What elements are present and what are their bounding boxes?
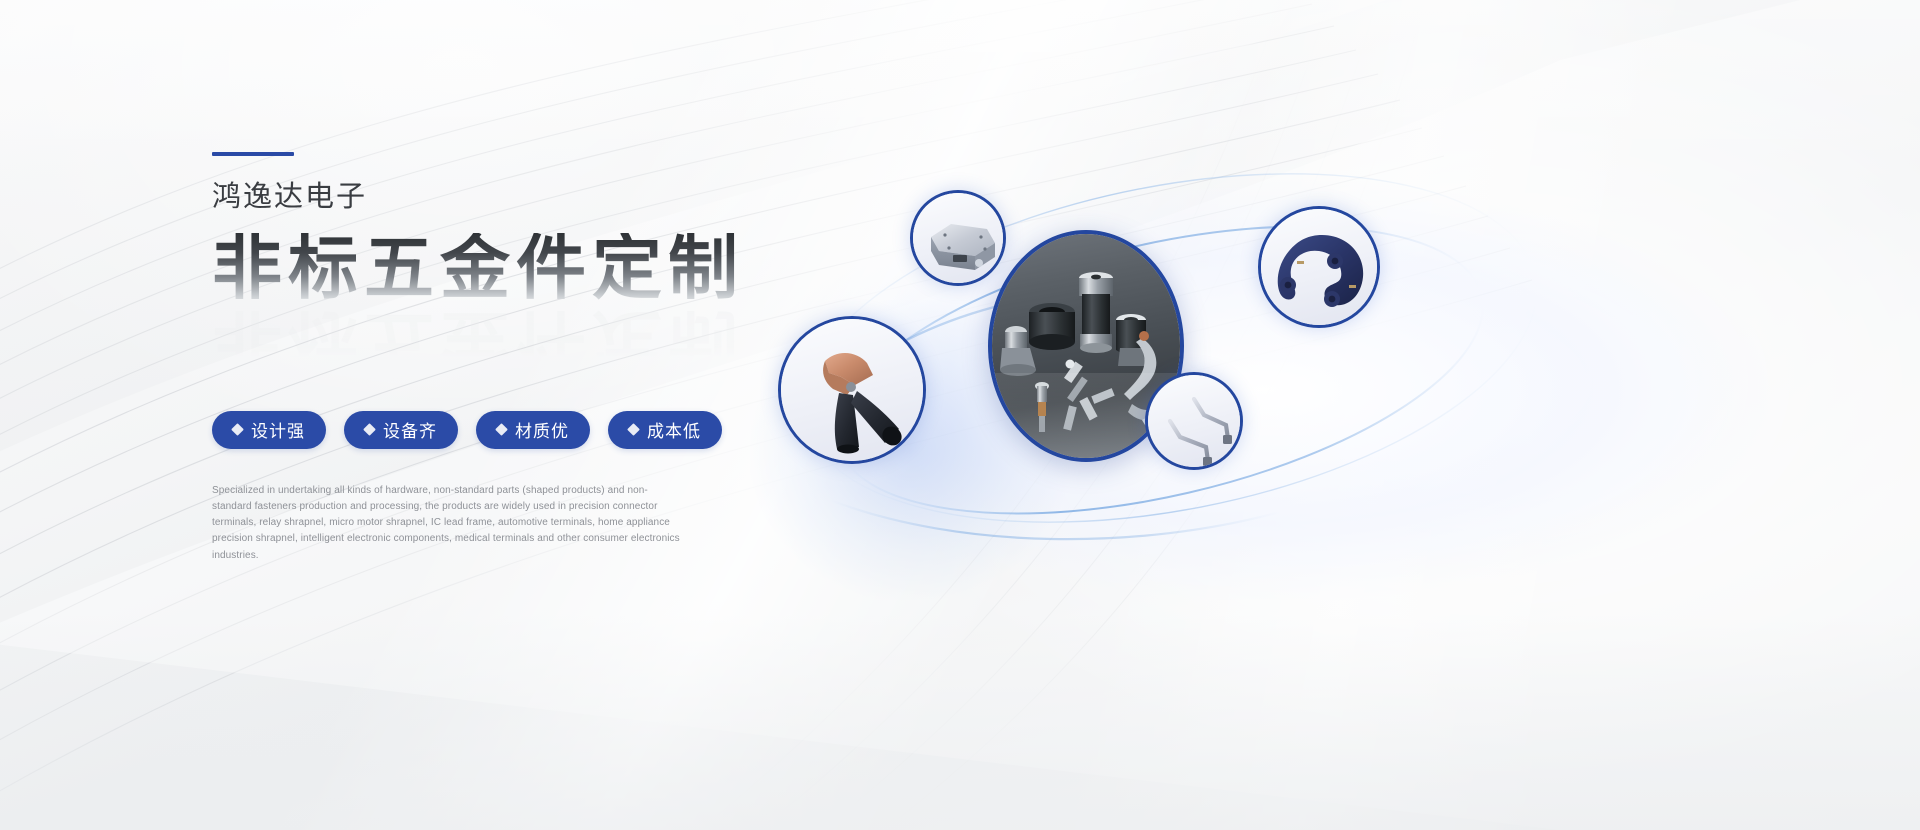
feature-pill-label: 设计强 [251, 417, 305, 442]
copper-battery-clamp-photo [781, 319, 923, 461]
feature-pill-equipment[interactable]: 设备齐 [344, 411, 458, 449]
showcase-node-snap-ring[interactable] [1258, 206, 1380, 328]
battery-clamp-illustration [781, 319, 926, 464]
feature-pill-label: 设备齐 [383, 417, 437, 442]
showcase-node-shielding-box[interactable] [910, 190, 1006, 286]
blue-snap-ring-photo [1261, 209, 1377, 325]
feature-pill-material[interactable]: 材质优 [476, 411, 590, 449]
feature-pill-design[interactable]: 设计强 [212, 411, 326, 449]
feature-pill-list: 设计强 设备齐 材质优 成本低 [212, 411, 832, 449]
accent-bar [212, 152, 294, 156]
metal-box-illustration [913, 193, 1006, 286]
hero-description: Specialized in undertaking all kinds of … [212, 483, 682, 564]
snap-ring-illustration [1261, 209, 1380, 328]
metal-shielding-box-photo [913, 193, 1003, 283]
diamond-icon [363, 423, 376, 436]
headline-reflection: 非标五金件定制 [212, 307, 744, 377]
showcase-node-battery-clamp[interactable] [778, 316, 926, 464]
showcase-node-terminal-pins[interactable] [1145, 372, 1243, 470]
feature-pill-label: 成本低 [647, 417, 701, 442]
diamond-icon [495, 423, 508, 436]
diamond-icon [627, 423, 640, 436]
terminal-pins-photo [1148, 375, 1240, 467]
terminal-pins-illustration [1148, 375, 1243, 470]
product-showcase [740, 120, 1820, 640]
hero-banner: 鸿逸达电子 非标五金件定制 非标五金件定制 设计强 设备齐 材质优 成本低 [0, 0, 1920, 830]
page-title: 非标五金件定制 [212, 233, 832, 303]
feature-pill-cost[interactable]: 成本低 [608, 411, 722, 449]
brand-name: 鸿逸达电子 [212, 180, 832, 215]
hero-text-column: 鸿逸达电子 非标五金件定制 非标五金件定制 设计强 设备齐 材质优 成本低 [212, 152, 832, 564]
diamond-icon [231, 423, 244, 436]
feature-pill-label: 材质优 [515, 417, 569, 442]
headline-block: 非标五金件定制 非标五金件定制 [212, 233, 832, 385]
